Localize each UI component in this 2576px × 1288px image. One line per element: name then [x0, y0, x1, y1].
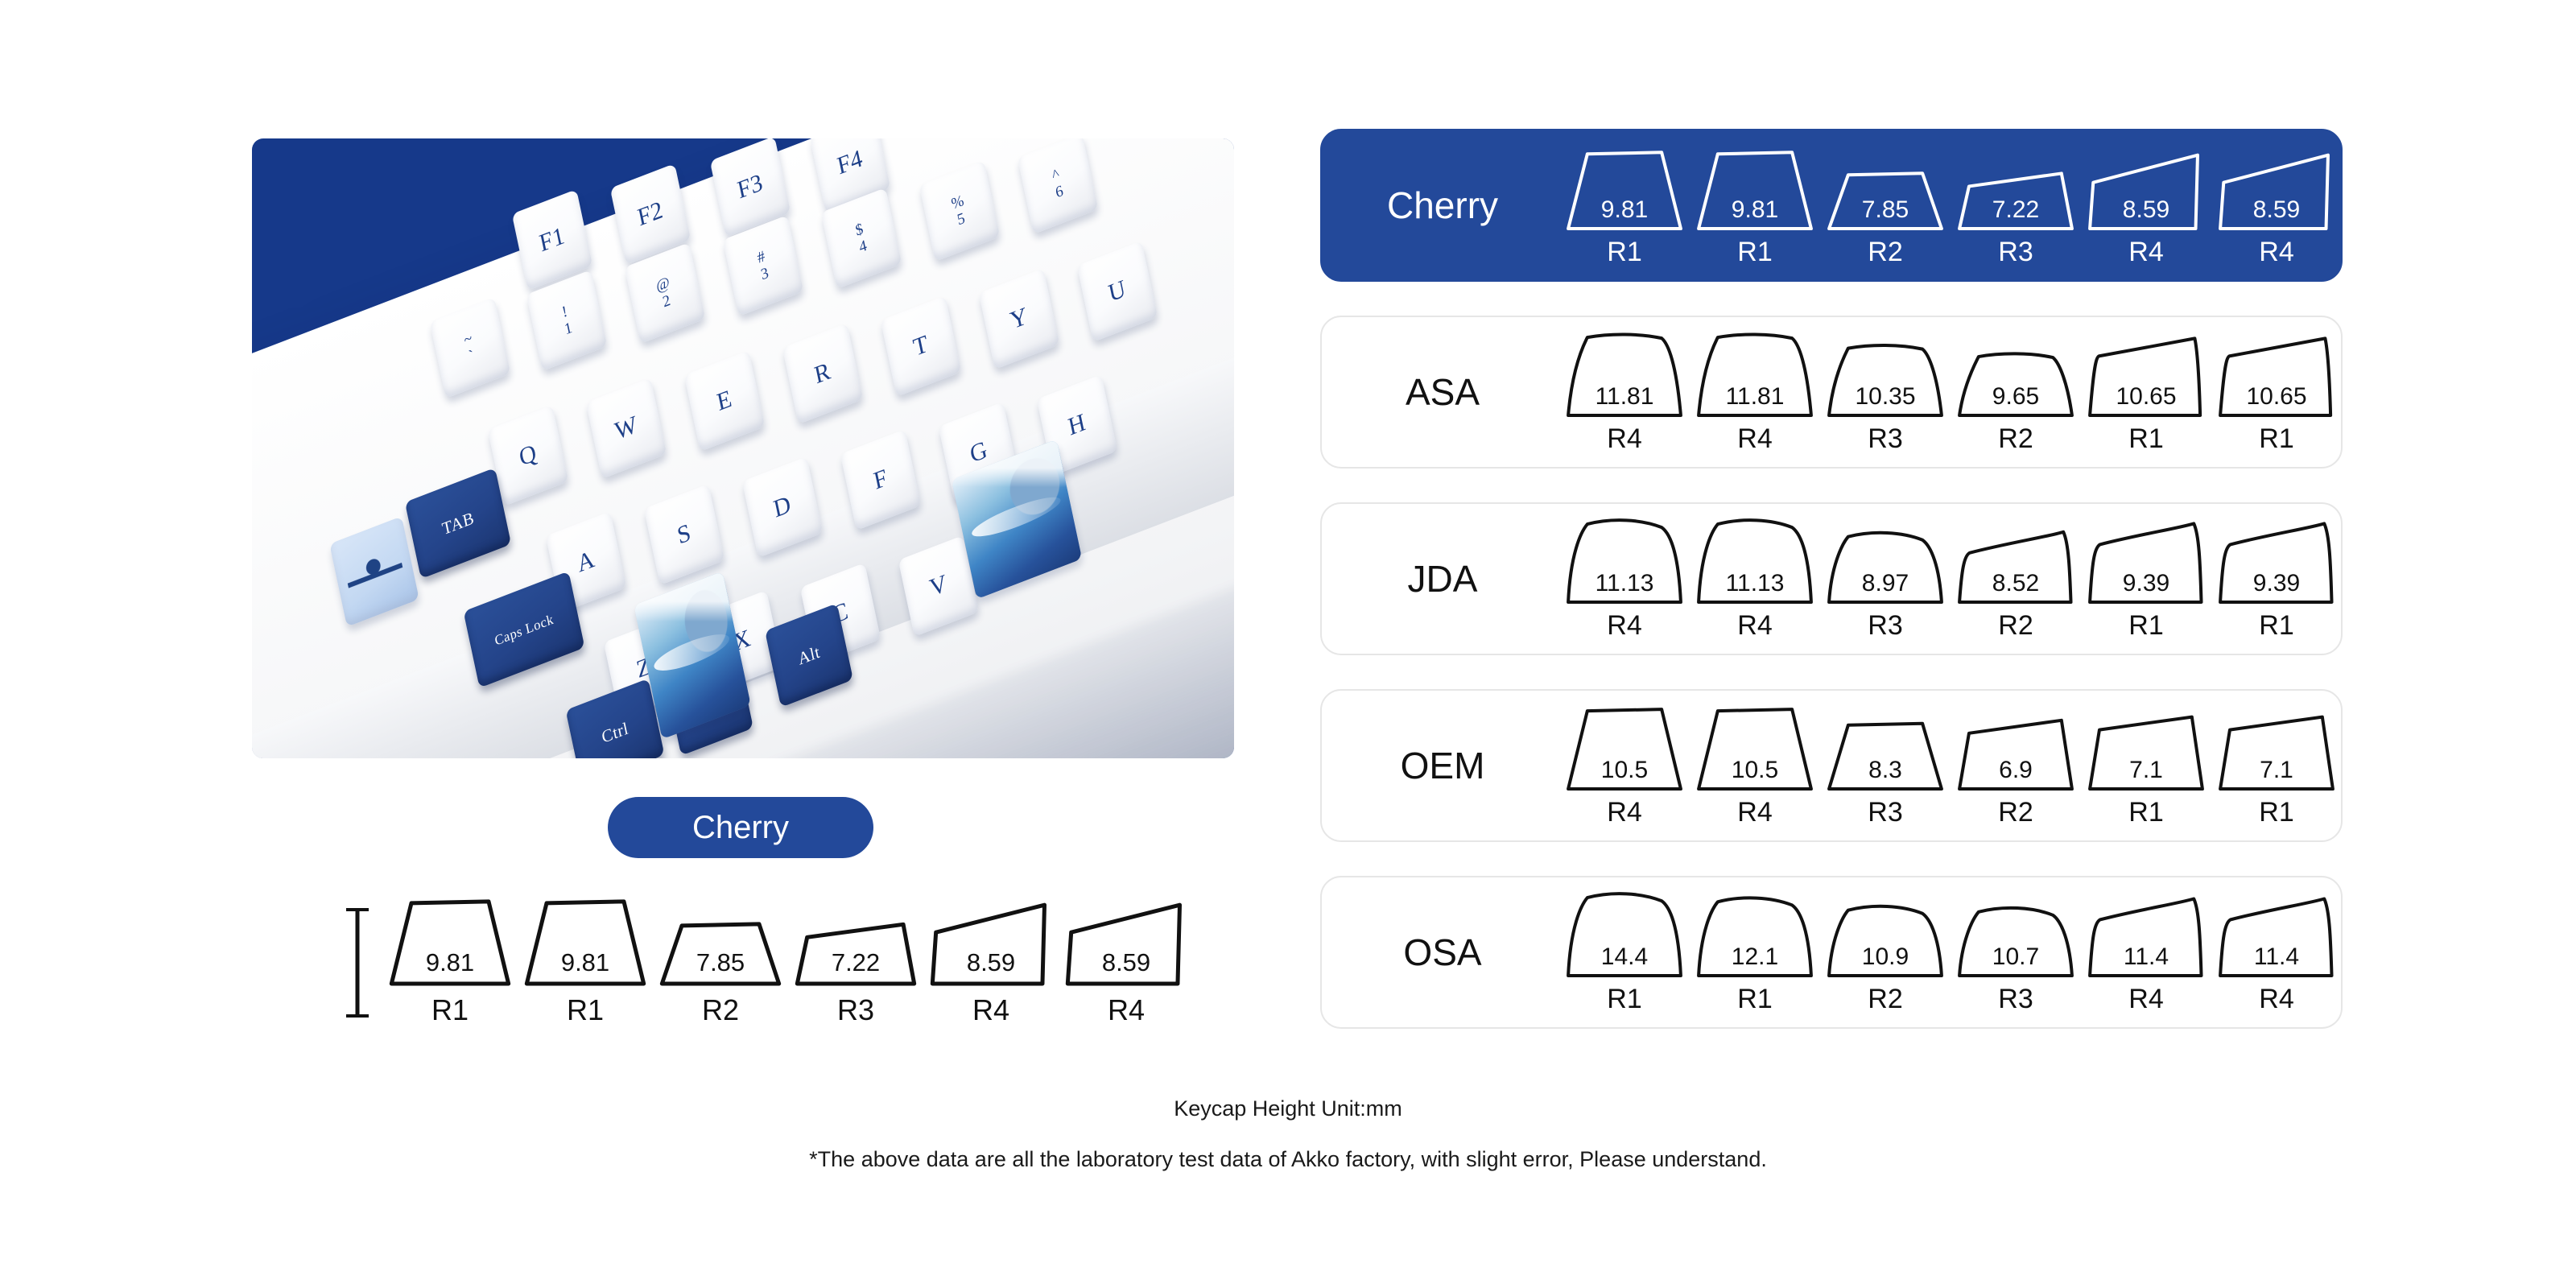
keycap-cell: 7.1R1 [2215, 704, 2338, 828]
cherry-profile-badge[interactable]: Cherry [608, 797, 873, 858]
keycaps-row: 9.81R1 9.81R1 7.85R2 7.22R3 8.59R4 8.59R… [1563, 143, 2359, 268]
keycap-s: S [644, 484, 724, 585]
keycap-silhouette: 7.22 [1955, 143, 2077, 232]
keycap-row-label: R4 [1607, 797, 1641, 828]
keycap-row-label: R1 [2128, 610, 2163, 642]
keycap-silhouette: 14.4 [1563, 890, 1686, 979]
keycap-row-label: R2 [702, 993, 739, 1027]
keycaps-row: 11.81R4 11.81R4 10.35R3 9.65R2 10.65R1 1… [1563, 330, 2359, 455]
height-ruler-icon [341, 906, 374, 1019]
keycap-t: T [881, 295, 961, 397]
featured-caps-row: 9.81R1 9.81R1 7.85R2 7.22R3 8.59R4 8.59R… [386, 892, 1190, 1027]
profile-card-jda[interactable]: JDA 11.13R4 11.13R4 8.97R3 8.52R2 9.39R1… [1320, 502, 2343, 655]
keycap-cell: 7.85R2 [657, 892, 784, 1027]
keycap-silhouette: 10.9 [1824, 890, 1946, 979]
keycap-profile-comparison-page: F1F2F3F4~`!1@2#3$4%5^6QWERTYUASDFGHZXCVT… [0, 0, 2576, 1288]
unit-note: Keycap Height Unit:mm [0, 1096, 2576, 1121]
keycap-row-label: R4 [1737, 423, 1772, 455]
keycap-silhouette: 10.5 [1563, 704, 1686, 792]
keycap-row-label: R1 [1607, 984, 1641, 1015]
keycap-silhouette: 11.81 [1694, 330, 1816, 419]
keycap-row-label: R4 [2259, 984, 2293, 1015]
keycap-^-6: ^6 [1018, 138, 1098, 234]
profile-name-label: Cherry [1322, 184, 1563, 227]
keycap-silhouette: 9.81 [1563, 143, 1686, 232]
keycap-row-label: R1 [1737, 237, 1772, 268]
keycap-row-label: R1 [2128, 797, 2163, 828]
keycap-cell: 8.59R4 [927, 892, 1055, 1027]
keycap-silhouette: 7.22 [792, 892, 919, 987]
keycap-cell: 7.1R1 [2085, 704, 2207, 828]
keycaps-row: 14.4R1 12.1R1 10.9R2 10.7R3 11.4R4 11.4R… [1563, 890, 2359, 1015]
keycap-silhouette: 11.13 [1694, 517, 1816, 605]
keycap-cell: 9.81R1 [1563, 143, 1686, 268]
keycap-cell: 7.22R3 [1955, 143, 2077, 268]
keycap-r: R [782, 323, 863, 424]
keycap-silhouette: 10.7 [1955, 890, 2077, 979]
keycap-row-label: R2 [1868, 984, 1902, 1015]
keycap-row-label: R1 [1607, 237, 1641, 268]
keycap-silhouette: 11.4 [2085, 890, 2207, 979]
keycap-u: U [1077, 241, 1158, 342]
keycap-row-label: R4 [1607, 423, 1641, 455]
keycap-row-label: R4 [1737, 610, 1772, 642]
keycap-row-label: R1 [2259, 797, 2293, 828]
profile-name-label: OEM [1322, 744, 1563, 787]
keycap-cell: 9.81R1 [522, 892, 649, 1027]
profile-name-label: ASA [1322, 370, 1563, 414]
left-column: F1F2F3F4~`!1@2#3$4%5^6QWERTYUASDFGHZXCVT… [0, 0, 1288, 1288]
cherry-badge-label: Cherry [692, 810, 789, 846]
keycap-row-label: R4 [1607, 610, 1641, 642]
keycap-cell: 9.81R1 [386, 892, 514, 1027]
disclaimer-note: *The above data are all the laboratory t… [0, 1147, 2576, 1172]
keycap-silhouette: 8.59 [1063, 892, 1190, 987]
keycap-row-label: R3 [837, 993, 874, 1027]
keycap-cell: 11.4R4 [2085, 890, 2207, 1015]
keycap-cell: 11.4R4 [2215, 890, 2338, 1015]
keycap-silhouette: 10.65 [2085, 330, 2207, 419]
keycap-silhouette: 9.81 [522, 892, 649, 987]
keycap-row-label: R4 [2259, 237, 2293, 268]
keycap-cell: 10.65R1 [2215, 330, 2338, 455]
keycap-row-label: R2 [1998, 610, 2033, 642]
keycap-cell: 10.7R3 [1955, 890, 2077, 1015]
keycap-silhouette: 10.65 [2215, 330, 2338, 419]
keycap-cell: 10.65R1 [2085, 330, 2207, 455]
keycap-silhouette: 10.35 [1824, 330, 1946, 419]
keycap-cell: 8.52R2 [1955, 517, 2077, 642]
keycap-row-label: R3 [1868, 797, 1902, 828]
profile-card-cherry[interactable]: Cherry 9.81R1 9.81R1 7.85R2 7.22R3 8.59R… [1320, 129, 2343, 282]
keycap-silhouette: 8.59 [927, 892, 1055, 987]
keycap-silhouette: 9.39 [2215, 517, 2338, 605]
keycap-silhouette: 11.13 [1563, 517, 1686, 605]
keycap-silhouette: 12.1 [1694, 890, 1816, 979]
keycap-cell: 8.59R4 [2085, 143, 2207, 268]
keycap-cell: 10.9R2 [1824, 890, 1946, 1015]
keycap-cell: 12.1R1 [1694, 890, 1816, 1015]
footnotes: Keycap Height Unit:mm *The above data ar… [0, 1096, 2576, 1172]
keycap-~-`: ~` [430, 297, 510, 398]
keycap-cell: 9.39R1 [2215, 517, 2338, 642]
profile-cards-column: Cherry 9.81R1 9.81R1 7.85R2 7.22R3 8.59R… [1320, 129, 2383, 1063]
keycap-silhouette: 7.85 [657, 892, 784, 987]
keycap-row-label: R3 [1998, 237, 2033, 268]
keycap-silhouette: 10.5 [1694, 704, 1816, 792]
keycap-w: W [586, 378, 667, 479]
keycap-cell: 8.3R3 [1824, 704, 1946, 828]
keyboard-keys: F1F2F3F4~`!1@2#3$4%5^6QWERTYUASDFGHZXCVT… [252, 138, 1234, 758]
keycap-silhouette: 9.39 [2085, 517, 2207, 605]
keycap-row-label: R3 [1998, 984, 2033, 1015]
keycap-row-label: R1 [2259, 610, 2293, 642]
keycap-cell: 11.13R4 [1694, 517, 1816, 642]
keycap-row-label: R3 [1868, 610, 1902, 642]
keycap-cell: 9.81R1 [1694, 143, 1816, 268]
keycap-row-label: R1 [2128, 423, 2163, 455]
keycap-d: D [742, 456, 823, 558]
keycap-row-label: R2 [1998, 797, 2033, 828]
crest-icon [341, 531, 408, 612]
keycap-silhouette: 7.1 [2215, 704, 2338, 792]
profile-card-oem[interactable]: OEM 10.5R4 10.5R4 8.3R3 6.9R2 7.1R1 7.1R… [1320, 689, 2343, 842]
keycap-silhouette: 9.81 [386, 892, 514, 987]
keycap-silhouette: 6.9 [1955, 704, 2077, 792]
keycap-row-label: R4 [972, 993, 1009, 1027]
keycap-silhouette: 8.59 [2215, 143, 2338, 232]
profile-name-label: OSA [1322, 931, 1563, 974]
keyboard-product-photo: F1F2F3F4~`!1@2#3$4%5^6QWERTYUASDFGHZXCVT… [252, 138, 1234, 758]
keycap-ctrl: Ctrl [566, 679, 665, 758]
keycap-cell: 6.9R2 [1955, 704, 2077, 828]
keycap-tab: TAB [405, 468, 511, 579]
keycap-silhouette: 9.81 [1694, 143, 1816, 232]
keycap-row-label: R3 [1868, 423, 1902, 455]
keycap-alt: Alt [765, 603, 853, 707]
keycap-cell: 10.5R4 [1694, 704, 1816, 828]
keycap-cell: 14.4R1 [1563, 890, 1686, 1015]
keycap-novelty-crest [329, 516, 419, 626]
keycap-silhouette: 8.59 [2085, 143, 2207, 232]
keycap-row-label: R1 [567, 993, 604, 1027]
featured-profile-strip: 9.81R1 9.81R1 7.85R2 7.22R3 8.59R4 8.59R… [330, 892, 1159, 1037]
keycap-cell: 11.81R4 [1694, 330, 1816, 455]
keycap-cell: 7.22R3 [792, 892, 919, 1027]
profile-card-asa[interactable]: ASA 11.81R4 11.81R4 10.35R3 9.65R2 10.65… [1320, 316, 2343, 469]
keycap-row-label: R4 [1108, 993, 1145, 1027]
keycap-e: E [684, 350, 765, 452]
keycap-row-label: R1 [1737, 984, 1772, 1015]
keycap-silhouette: 7.1 [2085, 704, 2207, 792]
keycap-cell: 9.65R2 [1955, 330, 2077, 455]
keycap-cell: 8.97R3 [1824, 517, 1946, 642]
keycap-silhouette: 11.4 [2215, 890, 2338, 979]
keycap-row-label: R2 [1868, 237, 1902, 268]
keycap-cell: 7.85R2 [1824, 143, 1946, 268]
keycap-cell: 10.35R3 [1824, 330, 1946, 455]
keycap-y: Y [979, 268, 1059, 369]
profile-name-label: JDA [1322, 557, 1563, 601]
keycap-row-label: R4 [2128, 237, 2163, 268]
keycap-row-label: R1 [2259, 423, 2293, 455]
keycap-cell: 8.59R4 [2215, 143, 2338, 268]
keycap-cell: 10.5R4 [1563, 704, 1686, 828]
keycap-row-label: R4 [2128, 984, 2163, 1015]
keycap-caps-lock: Caps Lock [464, 571, 585, 687]
keycap-cell: 8.59R4 [1063, 892, 1190, 1027]
profile-card-osa[interactable]: OSA 14.4R1 12.1R1 10.9R2 10.7R3 11.4R4 1… [1320, 876, 2343, 1029]
keycap-silhouette: 11.81 [1563, 330, 1686, 419]
keycaps-row: 11.13R4 11.13R4 8.97R3 8.52R2 9.39R1 9.3… [1563, 517, 2359, 642]
keycap-cell: 9.39R1 [2085, 517, 2207, 642]
keycap-silhouette: 9.65 [1955, 330, 2077, 419]
keycap-silhouette: 8.3 [1824, 704, 1946, 792]
keycap-%-5: %5 [919, 160, 1000, 262]
keycap-silhouette: 8.52 [1955, 517, 2077, 605]
keycap-silhouette: 7.85 [1824, 143, 1946, 232]
keycap-row-label: R1 [431, 993, 469, 1027]
keycap-row-label: R4 [1737, 797, 1772, 828]
keycaps-row: 10.5R4 10.5R4 8.3R3 6.9R2 7.1R1 7.1R1 [1563, 704, 2359, 828]
keycap-row-label: R2 [1998, 423, 2033, 455]
keycap-cell: 11.13R4 [1563, 517, 1686, 642]
keycap-f: F [840, 429, 921, 530]
keycap-silhouette: 8.97 [1824, 517, 1946, 605]
keycap-cell: 11.81R4 [1563, 330, 1686, 455]
